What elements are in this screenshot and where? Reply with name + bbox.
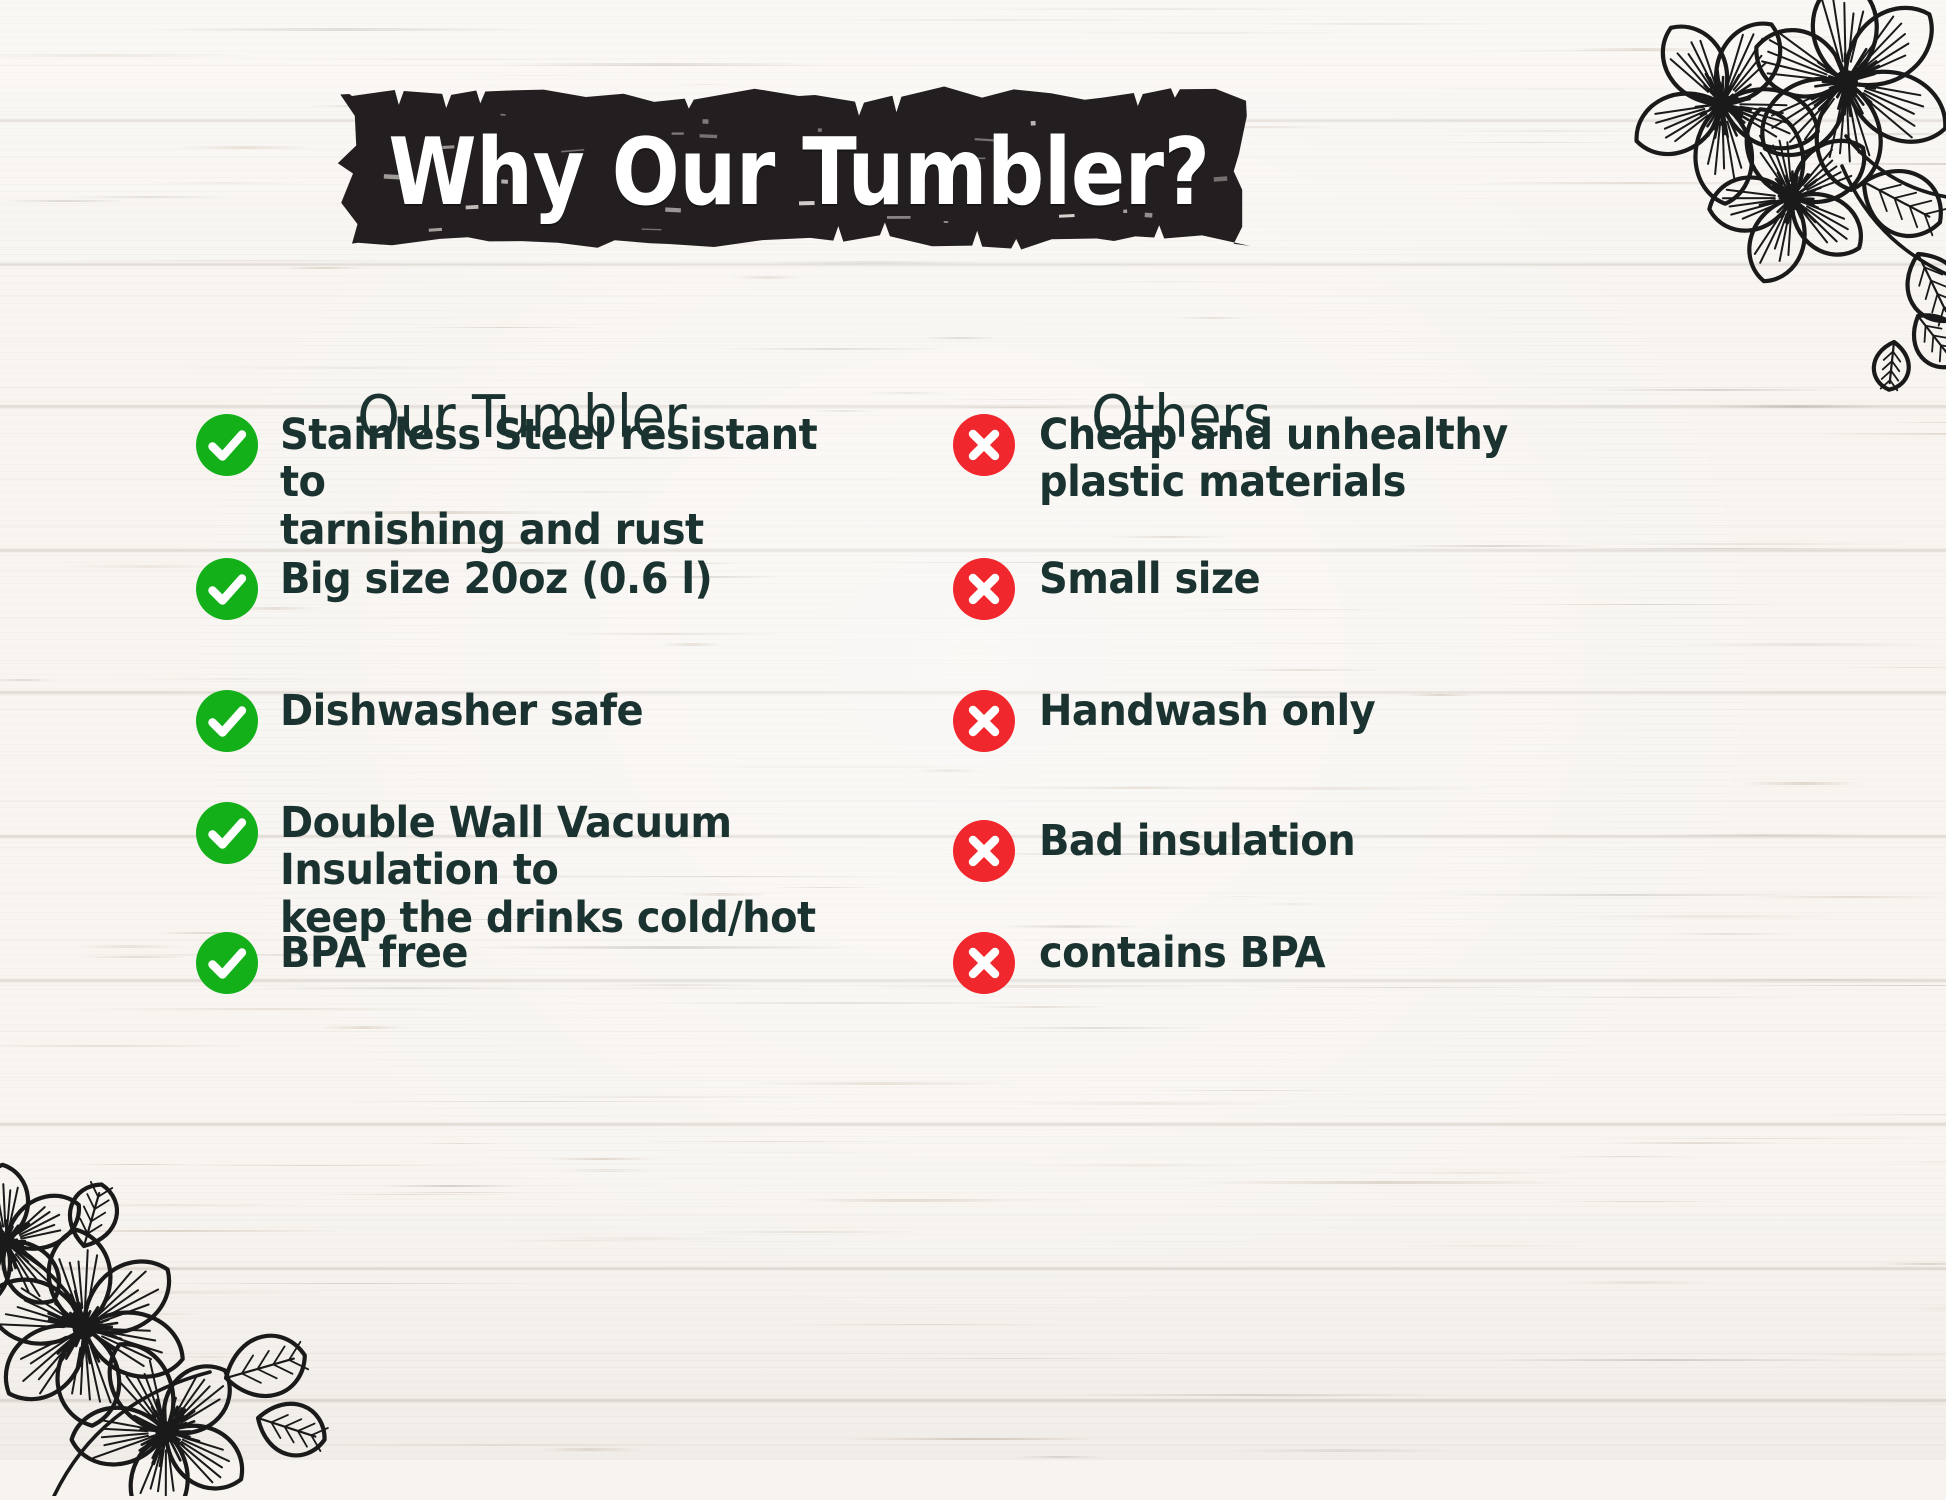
cross-circle-icon: [953, 820, 1015, 882]
cross-circle-icon: [953, 932, 1015, 994]
check-circle-icon: [196, 414, 258, 476]
comparison-row-ours: Stainless Steel resistant to tarnishing …: [196, 412, 916, 554]
cross-circle-icon: [953, 690, 1015, 752]
feature-text-others: contains BPA: [1039, 930, 1325, 977]
comparison-row-others: Bad insulation: [953, 818, 1593, 882]
comparison-row-others: contains BPA: [953, 930, 1593, 994]
check-circle-icon: [196, 802, 258, 864]
feature-text-ours: Stainless Steel resistant to tarnishing …: [280, 412, 871, 554]
comparison-row-ours: Double Wall Vacuum Insulation to keep th…: [196, 800, 916, 942]
comparison-row-ours: BPA free: [196, 930, 916, 994]
feature-text-ours: Dishwasher safe: [280, 688, 643, 735]
comparison-row-ours: Big size 20oz (0.6 l): [196, 556, 916, 620]
check-circle-icon: [196, 932, 258, 994]
comparison-rows: Stainless Steel resistant to tarnishing …: [0, 0, 1946, 1460]
cross-circle-icon: [953, 414, 1015, 476]
comparison-row-ours: Dishwasher safe: [196, 688, 916, 752]
comparison-row-others: Handwash only: [953, 688, 1593, 752]
feature-text-ours: BPA free: [280, 930, 468, 977]
comparison-row-others: Small size: [953, 556, 1593, 620]
feature-text-others: Handwash only: [1039, 688, 1375, 735]
check-circle-icon: [196, 558, 258, 620]
feature-text-others: Bad insulation: [1039, 818, 1355, 865]
feature-text-ours: Double Wall Vacuum Insulation to keep th…: [280, 800, 871, 942]
feature-text-others: Cheap and unhealthy plastic materials: [1039, 412, 1508, 507]
feature-text-others: Small size: [1039, 556, 1260, 603]
comparison-row-others: Cheap and unhealthy plastic materials: [953, 412, 1593, 507]
check-circle-icon: [196, 690, 258, 752]
feature-text-ours: Big size 20oz (0.6 l): [280, 556, 712, 603]
cross-circle-icon: [953, 558, 1015, 620]
